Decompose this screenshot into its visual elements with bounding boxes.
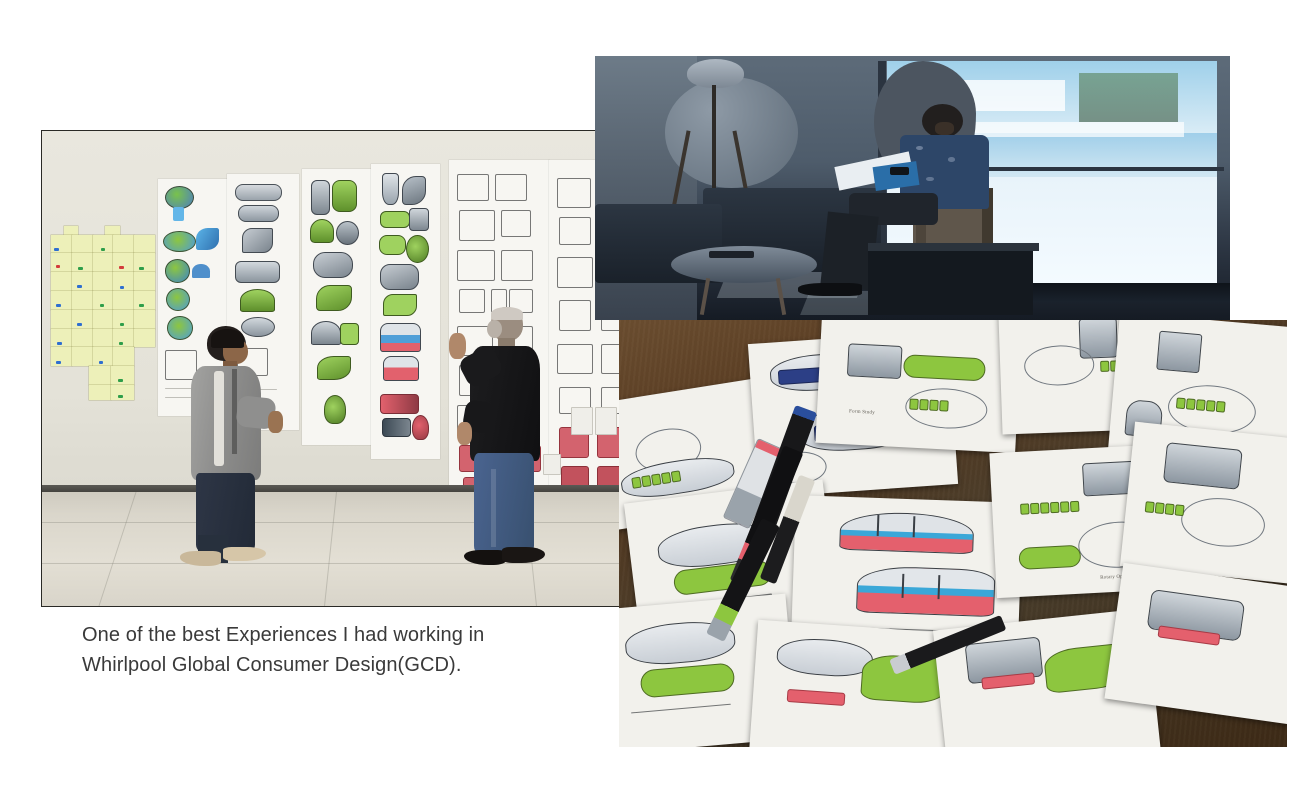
wall-disc	[665, 77, 798, 188]
coffee-table-leg	[700, 278, 711, 315]
sketch-sheet	[1120, 422, 1287, 586]
page-canvas: Form Study	[0, 0, 1311, 786]
sketch-sheet	[371, 164, 440, 459]
photo-marker-sketches-table: Form Study	[619, 320, 1287, 747]
photo-design-review-wall	[42, 131, 668, 606]
table-scene: Form Study	[619, 320, 1287, 747]
person-designer-hoodie	[173, 326, 286, 564]
floor-lamp-shade	[687, 59, 744, 88]
caption-line-2: Whirlpool Global Consumer Design(GCD).	[82, 650, 642, 680]
reader-face	[935, 122, 954, 135]
low-bench	[868, 246, 1033, 315]
phone-on-table	[709, 251, 753, 258]
wristwatch	[890, 167, 909, 175]
caption-text: One of the best Experiences I had workin…	[82, 620, 642, 680]
lounge-scene	[595, 56, 1230, 320]
studio-scene	[42, 131, 668, 606]
reader-shoe	[798, 283, 862, 296]
studio-floor	[42, 492, 668, 606]
photo-lounge-reading	[595, 56, 1230, 320]
bench-top	[868, 243, 1039, 251]
sticky-note-grid	[51, 226, 154, 397]
power-outlet	[595, 407, 617, 435]
sketch-sheet: Form Study	[816, 320, 1024, 453]
sketch-sheet	[1105, 563, 1287, 726]
caption-line-1: One of the best Experiences I had workin…	[82, 620, 642, 650]
sketch-sheet	[302, 169, 371, 445]
power-outlet	[571, 407, 593, 435]
person-designer-senior	[455, 307, 561, 568]
